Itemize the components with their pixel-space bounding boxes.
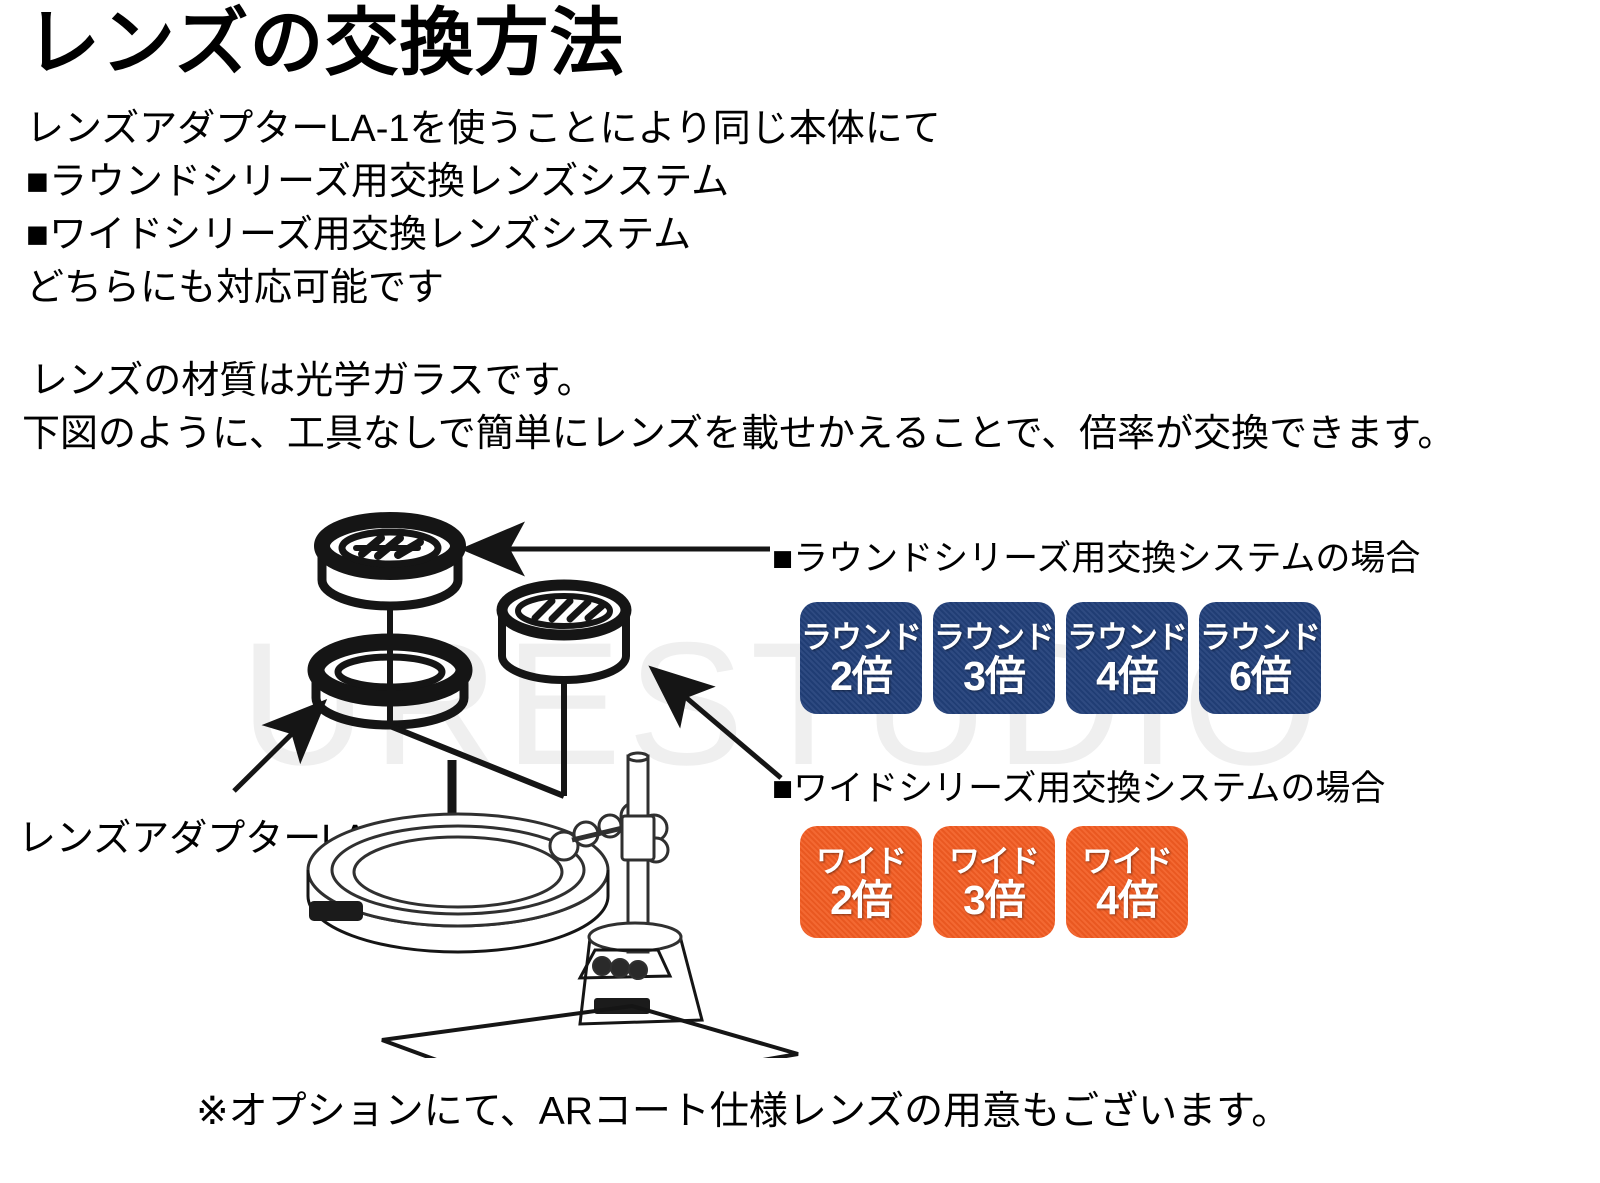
- intro-line-4: どちらにも対応可能です: [26, 269, 444, 307]
- badge-power-label: 3倍: [963, 879, 1025, 922]
- stand-base-plate: [382, 923, 798, 1058]
- intro-line-1: レンズアダプターLA-1を使うことにより同じ本体にて: [26, 110, 941, 148]
- badge-wide-4x[interactable]: ワイド 4倍: [1066, 826, 1188, 938]
- lens-exchange-infographic: URESTUDIO レンズの交換方法 レンズアダプターLA-1を使うことにより同…: [0, 0, 1600, 1183]
- round-lens-disc: [322, 520, 458, 606]
- badge-round-2x[interactable]: ラウンド 2倍: [800, 602, 922, 714]
- badge-series-label: ワイド: [1082, 846, 1172, 879]
- round-series-heading: ■ラウンドシリーズ用交換システムの場合: [772, 530, 1420, 581]
- badge-series-label: ラウンド: [1067, 622, 1187, 655]
- badge-round-3x[interactable]: ラウンド 3倍: [933, 602, 1055, 714]
- exchange-path-line: [390, 700, 564, 796]
- wide-series-heading: ■ワイドシリーズ用交換システムの場合: [772, 760, 1385, 811]
- badge-series-label: ワイド: [816, 846, 906, 879]
- badge-round-4x[interactable]: ラウンド 4倍: [1066, 602, 1188, 714]
- round-badge-row: ラウンド 2倍 ラウンド 3倍 ラウンド 4倍 ラウンド 6倍: [800, 602, 1321, 714]
- badge-power-label: 6倍: [1229, 655, 1291, 698]
- badge-series-label: ラウンド: [934, 622, 1054, 655]
- badge-series-label: ラウンド: [801, 622, 921, 655]
- badge-wide-2x[interactable]: ワイド 2倍: [800, 826, 922, 938]
- badge-power-label: 4倍: [1096, 655, 1158, 698]
- badge-series-label: ワイド: [949, 846, 1039, 879]
- badge-wide-3x[interactable]: ワイド 3倍: [933, 826, 1055, 938]
- badge-power-label: 4倍: [1096, 879, 1158, 922]
- intro-line-2: ■ラウンドシリーズ用交換レンズシステム: [26, 163, 729, 201]
- page-title: レンズの交換方法: [26, 6, 625, 80]
- magnifier-lens-exchange-illustration: [250, 498, 810, 1058]
- badge-series-label: ラウンド: [1200, 622, 1320, 655]
- body-line-1: レンズの材質は光学ガラスです。: [30, 362, 595, 400]
- badge-power-label: 2倍: [830, 655, 892, 698]
- body-line-2: 下図のように、工具なしで簡単にレンズを載せかえることで、倍率が交換できます。: [22, 415, 1455, 453]
- ar-coating-footnote: ※オプションにて、ARコート仕様レンズの用意もございます。: [196, 1080, 1290, 1136]
- intro-line-3: ■ワイドシリーズ用交換レンズシステム: [26, 216, 691, 254]
- wide-lens-disc: [502, 585, 626, 680]
- badge-power-label: 3倍: [963, 655, 1025, 698]
- badge-power-label: 2倍: [830, 879, 892, 922]
- wide-badge-row: ワイド 2倍 ワイド 3倍 ワイド 4倍: [800, 826, 1188, 938]
- badge-round-6x[interactable]: ラウンド 6倍: [1199, 602, 1321, 714]
